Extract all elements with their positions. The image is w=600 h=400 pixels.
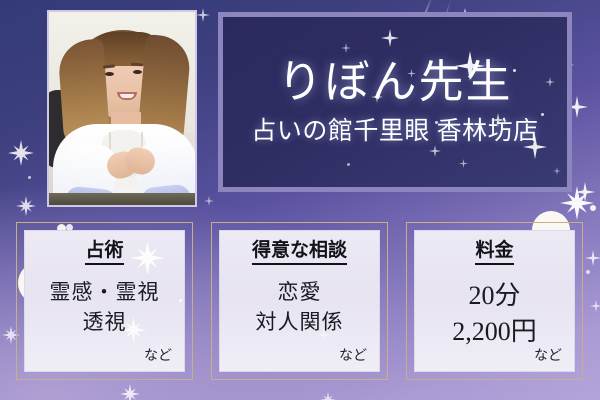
- card3-title: 料金: [475, 240, 513, 265]
- card2-title: 得意な相談: [252, 240, 347, 265]
- card2-line-1: 恋愛: [278, 279, 322, 307]
- profile-banner: りぼん先生 占いの館千里眼 香林坊店 占術 霊感・霊視 透視 など: [0, 0, 600, 400]
- card1-line-1: 霊感・霊視: [50, 279, 160, 307]
- card3-line-2: 2,200円: [452, 315, 537, 349]
- card2-list: 恋愛 対人関係: [256, 279, 344, 336]
- shop-name: 占いの館千里眼 香林坊店: [251, 119, 538, 144]
- card-divination: 占術 霊感・霊視 透視 など: [16, 222, 193, 380]
- card2-note: など: [339, 345, 367, 365]
- title-panel: りぼん先生 占いの館千里眼 香林坊店: [218, 12, 572, 192]
- card-specialty: 得意な相談 恋愛 対人関係 など: [211, 222, 388, 380]
- card1-list: 霊感・霊視 透視: [50, 279, 160, 336]
- card3-note: など: [534, 345, 562, 365]
- card1-line-2: 透視: [83, 309, 127, 337]
- card1-note: など: [144, 345, 172, 365]
- card1-title: 占術: [85, 240, 123, 265]
- fortune-teller-photo: [47, 10, 197, 207]
- card3-list: 20分 2,200円: [452, 279, 537, 349]
- teller-name: りぼん先生: [277, 60, 512, 105]
- card3-line-1: 20分: [468, 279, 520, 313]
- card2-line-2: 対人関係: [256, 309, 344, 337]
- card-price: 料金 20分 2,200円 など: [406, 222, 583, 380]
